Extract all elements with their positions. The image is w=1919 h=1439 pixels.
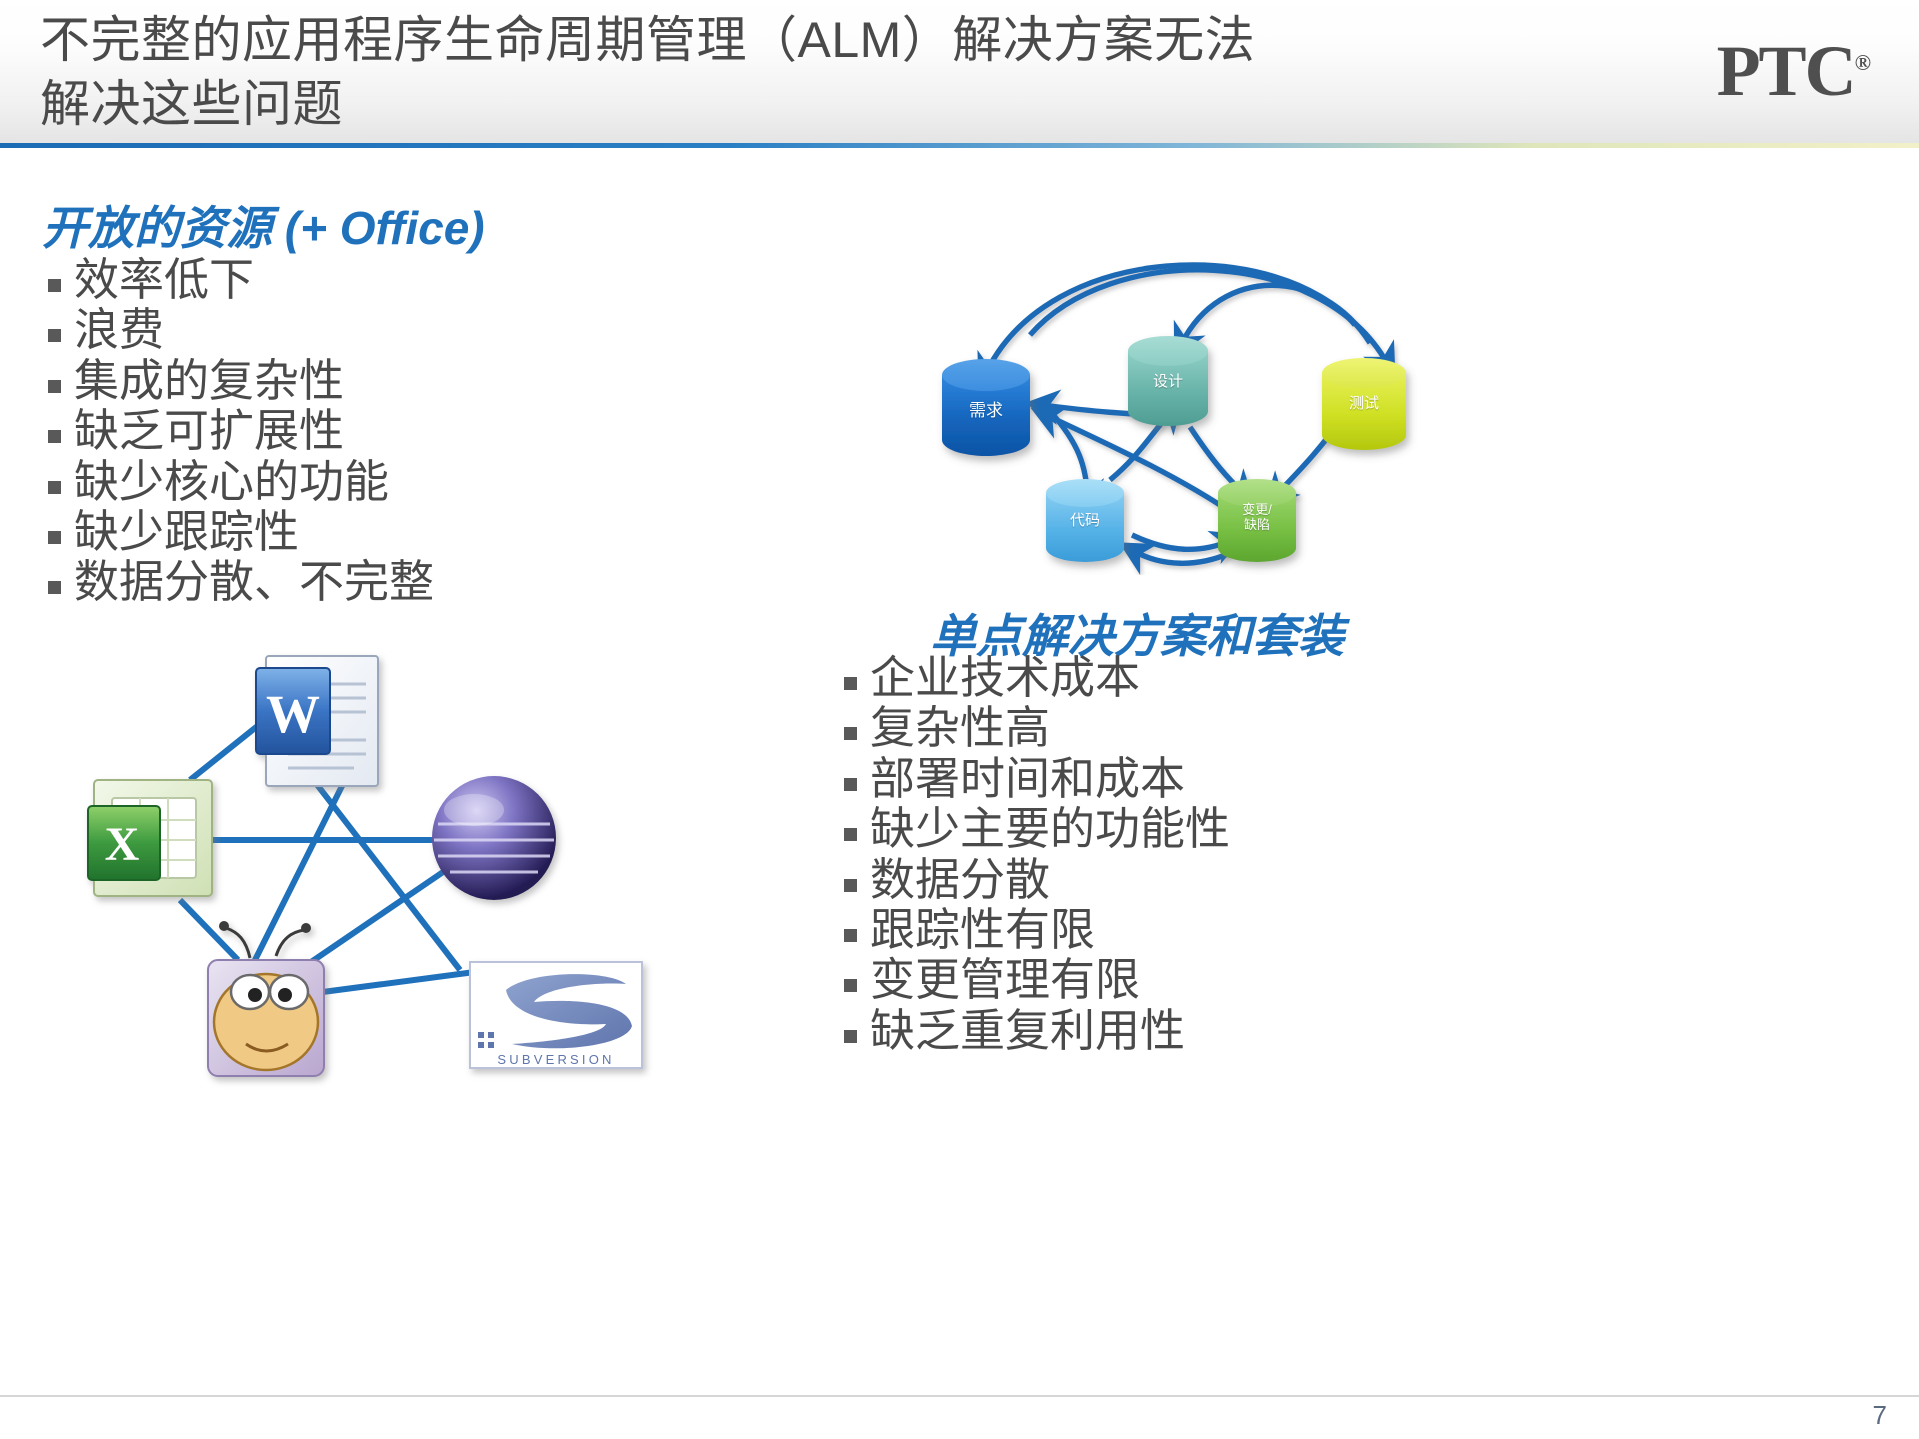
list-item: 浪费 [42, 305, 434, 355]
arrow-change-to-code [1134, 551, 1230, 563]
arrow-code-to-change [1132, 535, 1230, 549]
excel-icon-letter: X [105, 818, 140, 871]
list-item: 变更管理有限 [838, 955, 1230, 1005]
list-item: 缺乏重复利用性 [838, 1006, 1230, 1056]
left-bullet-list: 效率低下 浪费 集成的复杂性 缺乏可扩展性 缺少核心的功能 缺少跟踪性 数据分散… [42, 255, 434, 608]
list-item: 缺乏可扩展性 [42, 406, 434, 456]
subversion-icon-label: SUBVERSION [497, 1052, 614, 1067]
footer [0, 1397, 1919, 1439]
sphere-icon [432, 776, 556, 900]
tool-cluster-canvas: W X [60, 640, 680, 1110]
registered-mark-icon: ® [1855, 50, 1871, 75]
alm-node-requirements [942, 359, 1030, 456]
slide: 不完整的应用程序生命周期管理（ALM）解决方案无法 解决这些问题 PTC® 开放… [0, 0, 1919, 1439]
page-title: 不完整的应用程序生命周期管理（ALM）解决方案无法 解决这些问题 [40, 8, 1390, 136]
alm-node-change-defect [1218, 479, 1296, 562]
subversion-icon: SUBVERSION [470, 962, 642, 1068]
excel-icon: X [88, 780, 212, 896]
alm-node-test [1322, 358, 1406, 450]
ptc-logo: PTC® [1717, 30, 1871, 113]
alm-cycle-diagram: 需求 设计 测试 代码 变更/ 缺陷 [900, 215, 1480, 575]
list-item: 跟踪性有限 [838, 905, 1230, 955]
list-item: 数据分散、不完整 [42, 557, 434, 607]
header-divider [0, 143, 1919, 148]
word-icon: W [256, 656, 378, 786]
alm-node-code [1046, 479, 1124, 562]
list-item: 缺少核心的功能 [42, 457, 434, 507]
alm-node-design [1128, 336, 1208, 426]
list-item: 部署时间和成本 [838, 754, 1230, 804]
word-icon-letter: W [266, 684, 320, 744]
list-item: 效率低下 [42, 255, 434, 305]
right-bullet-list: 企业技术成本 复杂性高 部署时间和成本 缺少主要的功能性 数据分散 跟踪性有限 … [838, 653, 1230, 1056]
list-item: 缺少主要的功能性 [838, 804, 1230, 854]
list-item: 企业技术成本 [838, 653, 1230, 703]
tool-icon-cluster: W X [60, 640, 680, 1110]
ptc-logo-text: PTC [1717, 31, 1855, 111]
list-item: 缺少跟踪性 [42, 507, 434, 557]
list-item: 数据分散 [838, 855, 1230, 905]
list-item: 集成的复杂性 [42, 356, 434, 406]
left-section-heading: 开放的资源 (+ Office) [42, 192, 485, 258]
list-item: 复杂性高 [838, 703, 1230, 753]
page-number: 7 [1873, 1400, 1887, 1431]
alm-diagram-canvas [900, 215, 1480, 575]
slide-header: 不完整的应用程序生命周期管理（ALM）解决方案无法 解决这些问题 PTC® [0, 0, 1919, 145]
